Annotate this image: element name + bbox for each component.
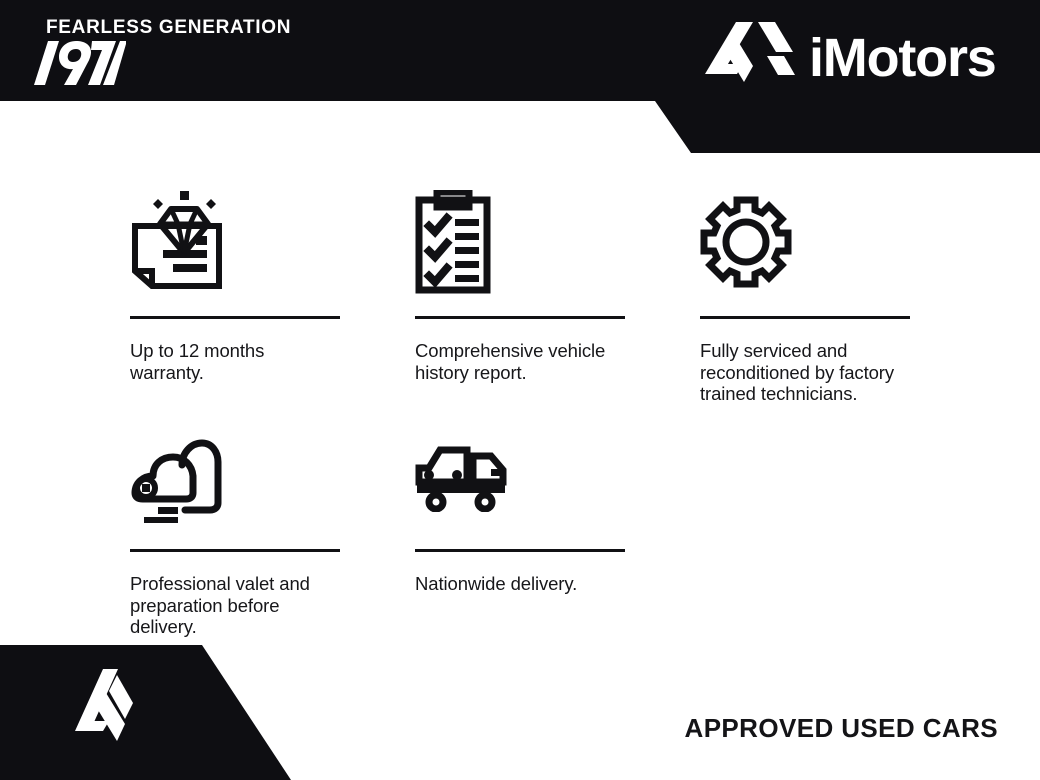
feature-text: Professional valet and preparation befor… [130,573,340,638]
feature-warranty: Up to 12 months warranty. [130,186,340,383]
imotors-arrow-logo-icon [73,669,155,755]
feature-divider [415,549,625,552]
feature-icon-wrap [415,423,625,531]
warranty-gem-certificate-icon [130,191,224,293]
feature-delivery: Nationwide delivery. [415,423,625,595]
features-row-2: Professional valet and preparation befor… [130,423,920,638]
feature-icon-wrap [130,186,340,298]
feature-text: Comprehensive vehicle history report. [415,340,625,383]
poster-canvas: FEARLESS GENERATION iMotors [0,0,1040,780]
brand-lockup: iMotors [703,22,996,94]
clipboard-checklist-icon [415,190,491,294]
feature-text: Nationwide delivery. [415,573,625,595]
feature-icon-wrap [415,186,625,298]
footer-tagline: APPROVED USED CARS [685,715,998,741]
feature-text: Fully serviced and reconditioned by fact… [700,340,910,405]
vacuum-cleaner-icon [130,431,222,523]
feature-divider [130,316,340,319]
feature-valet: Professional valet and preparation befor… [130,423,340,638]
features-grid: Up to 12 months warranty. [130,186,920,638]
feature-history-report: Comprehensive vehicle history report. [415,186,625,383]
feature-icon-wrap [130,423,340,531]
features-row-1: Up to 12 months warranty. [130,186,920,405]
header-tagline: FEARLESS GENERATION [46,18,291,37]
feature-icon-wrap [700,186,910,298]
feature-divider [415,316,625,319]
imotors-arrow-logo-icon [703,22,795,94]
feature-serviced: Fully serviced and reconditioned by fact… [700,186,910,405]
feature-text: Up to 12 months warranty. [130,340,340,383]
brand-name: iMotors [809,31,996,85]
gear-cog-icon [700,196,792,288]
year-1971-logo-icon [34,41,126,85]
feature-divider [130,549,340,552]
feature-divider [700,316,910,319]
car-transporter-truck-icon [415,442,507,512]
